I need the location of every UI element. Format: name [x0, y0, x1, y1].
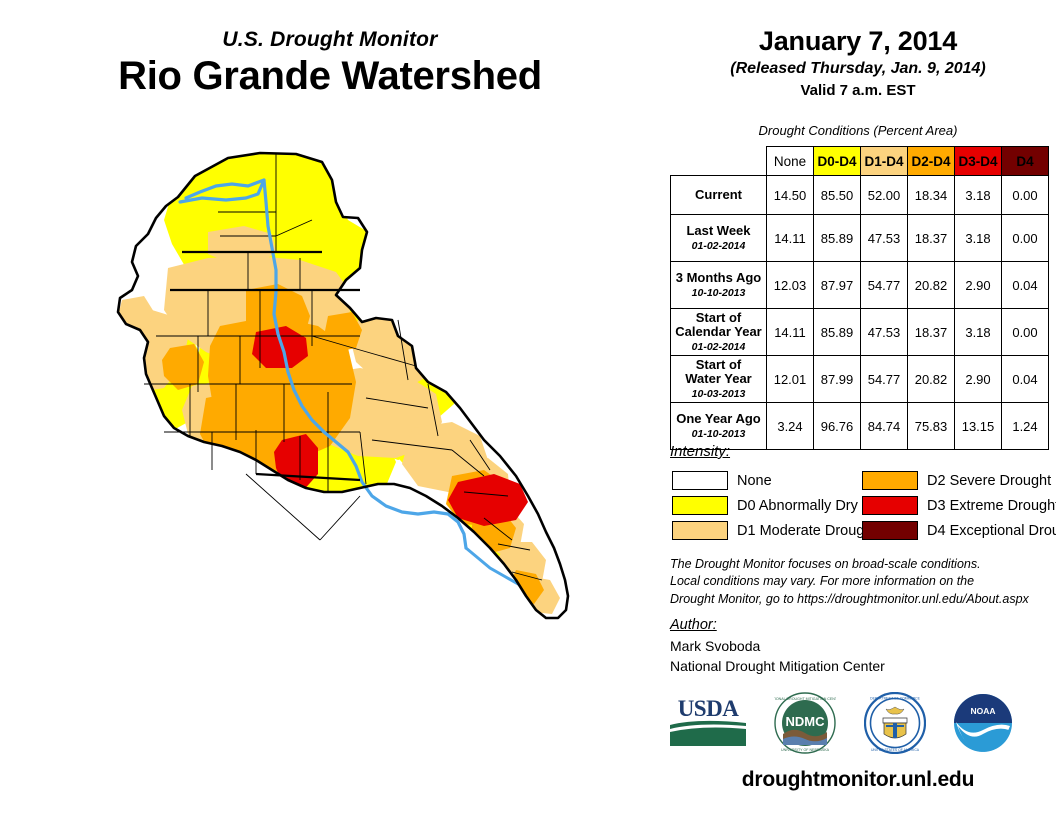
row-label-date: 01-10-2013: [671, 428, 766, 440]
legend-swatch-right-0: [862, 471, 918, 490]
row-label-date: 10-03-2013: [671, 388, 766, 400]
row-label: 3 Months Ago10-10-2013: [671, 262, 767, 309]
table-cell-d4: 0.00: [1002, 176, 1049, 215]
row-label-date: 01-02-2014: [671, 341, 766, 353]
note-line-2: Local conditions may vary. For more info…: [670, 573, 1029, 590]
table-header-d2-d4: D2-D4: [908, 147, 955, 176]
table-cell-d0-d4: 85.89: [814, 215, 861, 262]
author-org: National Drought Mitigation Center: [670, 656, 885, 676]
svg-text:UNIVERSITY OF NEBRASKA: UNIVERSITY OF NEBRASKA: [781, 748, 830, 752]
table-cell-d3-d4: 3.18: [955, 176, 1002, 215]
table-cell-d3-d4: 2.90: [955, 262, 1002, 309]
disclaimer-note: The Drought Monitor focuses on broad-sca…: [670, 556, 1029, 608]
table-cell-d3-d4: 3.18: [955, 309, 1002, 356]
row-label-date: 01-02-2014: [671, 240, 766, 252]
table-row: 3 Months Ago10-10-201312.0387.9754.7720.…: [671, 262, 1049, 309]
table-cell-none: 12.01: [767, 356, 814, 403]
table-cell-d1-d4: 84.74: [861, 403, 908, 450]
legend-label: D3 Extreme Drought: [927, 498, 1056, 514]
legend-item: D2 Severe Drought: [862, 468, 1056, 493]
row-label: Last Week01-02-2014: [671, 215, 767, 262]
author-block: Mark Svoboda National Drought Mitigation…: [670, 636, 885, 677]
usda-logo[interactable]: USDA: [668, 692, 748, 748]
table-header-d3-d4: D3-D4: [955, 147, 1002, 176]
legend-label: D0 Abnormally Dry: [737, 498, 858, 514]
table-cell-d4: 1.24: [1002, 403, 1049, 450]
logo-row: USDA NDMC NATIONAL DROUGHT MITIGATION CE…: [660, 692, 1056, 754]
row-label-line: Last Week: [671, 224, 766, 239]
release-date: (Released Thursday, Jan. 9, 2014): [660, 60, 1056, 78]
table-cell-d1-d4: 52.00: [861, 176, 908, 215]
table-cell-d4: 0.04: [1002, 356, 1049, 403]
row-label: Start ofWater Year10-03-2013: [671, 356, 767, 403]
table-header-d4: D4: [1002, 147, 1049, 176]
svg-text:UNITED STATES OF AMERICA: UNITED STATES OF AMERICA: [871, 748, 920, 752]
table-cell-d4: 0.00: [1002, 215, 1049, 262]
svg-text:NOAA: NOAA: [970, 706, 995, 716]
table-cell-d3-d4: 2.90: [955, 356, 1002, 403]
table-cell-none: 3.24: [767, 403, 814, 450]
legend-swatch-right-1: [862, 496, 918, 515]
row-label-line: 3 Months Ago: [671, 271, 766, 286]
table-cell-d1-d4: 54.77: [861, 356, 908, 403]
legend-column-left: NoneD0 Abnormally DryD1 Moderate Drought: [672, 468, 876, 543]
table-cell-none: 14.50: [767, 176, 814, 215]
map-svg[interactable]: [60, 140, 620, 800]
note-line-3: Drought Monitor, go to https://droughtmo…: [670, 591, 1029, 608]
table-cell-d0-d4: 87.97: [814, 262, 861, 309]
author-name: Mark Svoboda: [670, 636, 885, 656]
table-cell-d2-d4: 18.37: [908, 309, 955, 356]
legend-item: D0 Abnormally Dry: [672, 493, 876, 518]
svg-text:NATIONAL DROUGHT MITIGATION CE: NATIONAL DROUGHT MITIGATION CENTER: [774, 697, 836, 701]
table-cell-d0-d4: 85.50: [814, 176, 861, 215]
table-cell-d2-d4: 75.83: [908, 403, 955, 450]
table-header-d1-d4: D1-D4: [861, 147, 908, 176]
table-row: Start ofCalendar Year01-02-201414.1185.8…: [671, 309, 1049, 356]
title-block: U.S. Drought Monitor Rio Grande Watershe…: [0, 28, 660, 99]
legend-label: None: [737, 473, 772, 489]
table-cell-d3-d4: 3.18: [955, 215, 1002, 262]
table-cell-d1-d4: 47.53: [861, 215, 908, 262]
legend-item: D4 Exceptional Drought: [862, 518, 1056, 543]
table-cell-d0-d4: 96.76: [814, 403, 861, 450]
svg-text:NDMC: NDMC: [786, 714, 826, 729]
table-cell-none: 14.11: [767, 215, 814, 262]
table-cell-none: 14.11: [767, 309, 814, 356]
legend-item: D3 Extreme Drought: [862, 493, 1056, 518]
table-cell-d1-d4: 54.77: [861, 262, 908, 309]
legend-swatch-left-2: [672, 521, 728, 540]
table-cell-d3-d4: 13.15: [955, 403, 1002, 450]
table-cell-d0-d4: 87.99: [814, 356, 861, 403]
table-row: Start ofWater Year10-03-201312.0187.9954…: [671, 356, 1049, 403]
table-header-none: None: [767, 147, 814, 176]
page-subtitle: U.S. Drought Monitor: [0, 28, 660, 52]
ndmc-logo[interactable]: NDMC NATIONAL DROUGHT MITIGATION CENTER …: [774, 692, 836, 754]
row-label: Current: [671, 176, 767, 215]
row-label-date: 10-10-2013: [671, 287, 766, 299]
row-label-line: Start of: [671, 311, 766, 326]
legend-swatch-right-2: [862, 521, 918, 540]
page-title: Rio Grande Watershed: [0, 54, 660, 99]
table-body: Current14.5085.5052.0018.343.180.00Last …: [671, 176, 1049, 450]
row-label: Start ofCalendar Year01-02-2014: [671, 309, 767, 356]
legend-label: D2 Severe Drought: [927, 473, 1051, 489]
noaa-logo[interactable]: NOAA: [952, 692, 1014, 754]
table-corner-cell: [671, 147, 767, 176]
legend-label: D4 Exceptional Drought: [927, 523, 1056, 539]
table-cell-d0-d4: 85.89: [814, 309, 861, 356]
intensity-heading: Intensity:: [670, 443, 730, 460]
table-cell-d2-d4: 20.82: [908, 356, 955, 403]
table-cell-d1-d4: 47.53: [861, 309, 908, 356]
site-url[interactable]: droughtmonitor.unl.edu: [660, 768, 1056, 792]
note-line-1: The Drought Monitor focuses on broad-sca…: [670, 556, 1029, 573]
table-cell-d2-d4: 18.37: [908, 215, 955, 262]
drought-regions: [114, 152, 560, 614]
author-heading: Author:: [670, 617, 717, 633]
doc-logo[interactable]: DEPARTMENT OF COMMERCE UNITED STATES OF …: [864, 692, 926, 754]
row-label-line: Current: [671, 188, 766, 203]
table-cell-d4: 0.04: [1002, 262, 1049, 309]
table-cell-d2-d4: 18.34: [908, 176, 955, 215]
legend-swatch-left-0: [672, 471, 728, 490]
table-cell-d4: 0.00: [1002, 309, 1049, 356]
legend-label: D1 Moderate Drought: [737, 523, 876, 539]
date-block: January 7, 2014 (Released Thursday, Jan.…: [660, 26, 1056, 99]
svg-text:DEPARTMENT OF COMMERCE: DEPARTMENT OF COMMERCE: [870, 697, 920, 701]
valid-time: Valid 7 a.m. EST: [660, 82, 1056, 99]
legend-swatch-left-1: [672, 496, 728, 515]
table-row: Last Week01-02-201414.1185.8947.5318.373…: [671, 215, 1049, 262]
table-cell-none: 12.03: [767, 262, 814, 309]
svg-text:USDA: USDA: [678, 696, 740, 721]
table-header-row: NoneD0-D4D1-D4D2-D4D3-D4D4: [671, 147, 1049, 176]
drought-monitor-page: U.S. Drought Monitor Rio Grande Watershe…: [0, 0, 1056, 816]
drought-conditions-table: NoneD0-D4D1-D4D2-D4D3-D4D4 Current14.508…: [670, 146, 1049, 450]
row-label-line: Calendar Year: [671, 325, 766, 340]
table-caption: Drought Conditions (Percent Area): [660, 123, 1056, 138]
row-label-line: Water Year: [671, 372, 766, 387]
report-date: January 7, 2014: [660, 26, 1056, 57]
legend-column-right: D2 Severe DroughtD3 Extreme DroughtD4 Ex…: [862, 468, 1056, 543]
legend-item: None: [672, 468, 876, 493]
table-header-d0-d4: D0-D4: [814, 147, 861, 176]
table-row: Current14.5085.5052.0018.343.180.00: [671, 176, 1049, 215]
legend-item: D1 Moderate Drought: [672, 518, 876, 543]
drought-map[interactable]: [60, 140, 620, 800]
row-label-line: Start of: [671, 358, 766, 373]
row-label-line: One Year Ago: [671, 412, 766, 427]
table-cell-d2-d4: 20.82: [908, 262, 955, 309]
